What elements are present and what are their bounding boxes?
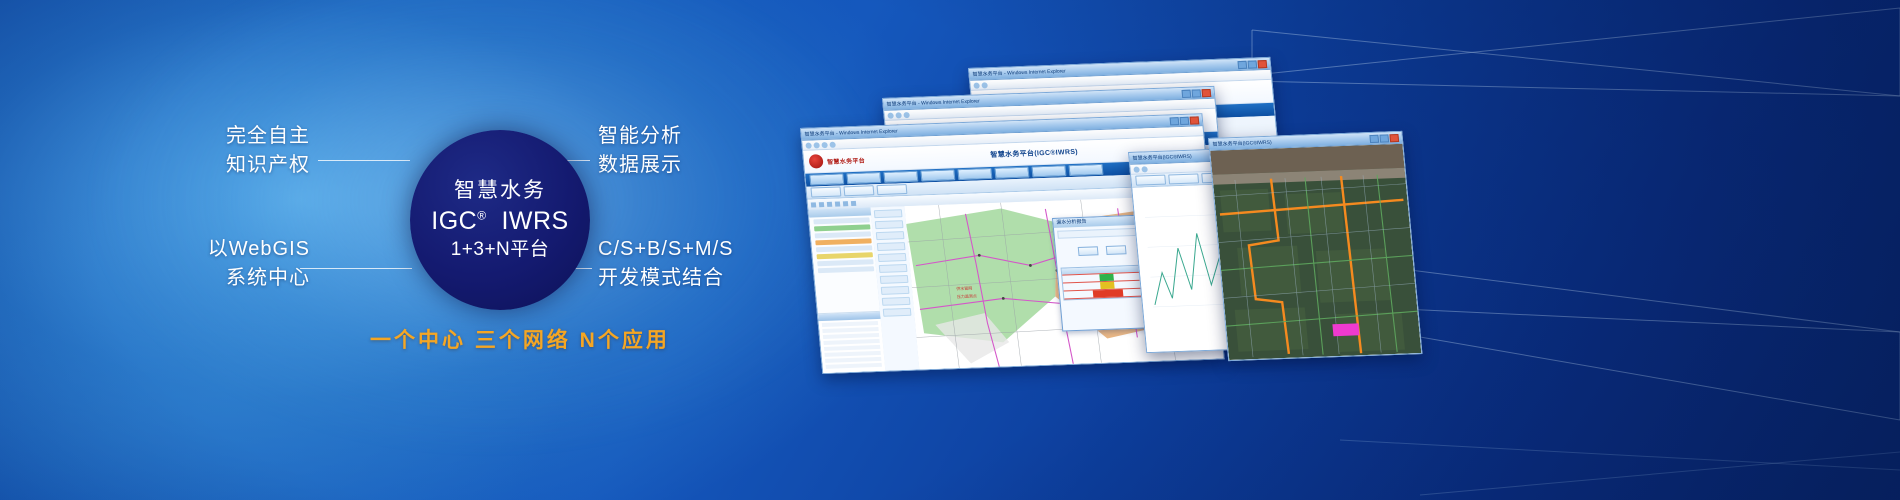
feature-top-right-line2: 数据展示 <box>598 151 682 180</box>
select-icon <box>835 201 840 206</box>
feature-label-bottom-left: 以WebGIS 系统中心 <box>160 235 310 293</box>
app-window-stack: 智慧水务平台 - Windows Internet Explorer 智慧水务平… <box>790 40 1900 380</box>
back-icon <box>1133 166 1140 172</box>
map-window-controls[interactable] <box>1369 134 1399 143</box>
tool-button <box>874 209 903 218</box>
center-hub-circle: 智慧水务 IGC® IWRS 1+3+N平台 <box>410 130 590 310</box>
feature-bottom-left-line1: 以WebGIS <box>160 235 310 264</box>
tool-button <box>881 286 910 295</box>
tool-button <box>877 242 906 251</box>
hub-product-line: IGC® IWRS <box>431 207 568 236</box>
feature-top-left-line1: 完全自主 <box>180 122 310 151</box>
middle-window-controls[interactable] <box>1181 88 1211 97</box>
tool-button <box>883 308 912 317</box>
layer-item <box>815 238 871 245</box>
sub-tab <box>1135 175 1166 186</box>
refresh-icon <box>903 111 910 117</box>
nav-tab <box>920 169 955 181</box>
forward-icon <box>813 142 820 148</box>
nav-tab <box>883 171 918 183</box>
registered-mark-icon: ® <box>477 209 486 223</box>
front-window-title: 智慧水务平台 - Windows Internet Explorer <box>804 127 898 137</box>
layer-item <box>818 266 874 273</box>
nav-tab <box>809 173 844 185</box>
hub-title-cn: 智慧水务 <box>454 179 546 202</box>
back-window-controls[interactable] <box>1237 60 1267 69</box>
front-window-controls[interactable] <box>1170 116 1200 125</box>
maximize-icon <box>1379 134 1389 142</box>
close-icon <box>1257 60 1267 68</box>
nav-tab <box>846 172 881 184</box>
forward-icon <box>981 82 988 88</box>
zoom-out-icon <box>827 201 832 206</box>
tool-button <box>876 231 905 240</box>
layer-item <box>817 259 873 266</box>
layer-item <box>813 217 869 224</box>
close-icon <box>1190 116 1200 124</box>
attribute-table-header <box>818 312 881 321</box>
connector-rule-top-left <box>318 160 410 161</box>
feature-bottom-right-line1: C/S+B/S+M/S <box>598 235 734 264</box>
back-icon <box>973 82 980 88</box>
query-button[interactable] <box>1078 246 1099 256</box>
satellite-map-canvas[interactable] <box>1210 144 1421 360</box>
nav-tab <box>1068 164 1103 176</box>
maximize-icon <box>1247 60 1257 68</box>
forward-icon <box>1141 166 1148 172</box>
tagline: 一个中心 三个网络 N个应用 <box>370 324 670 354</box>
connector-rule-bottom-left <box>300 268 412 269</box>
sub-tab <box>843 185 874 196</box>
refresh-icon <box>821 141 828 147</box>
tool-button <box>882 297 911 306</box>
nav-tab <box>1031 165 1066 177</box>
close-icon <box>1389 134 1399 142</box>
print-icon <box>851 200 856 205</box>
maximize-icon <box>1191 89 1201 97</box>
sub-tab <box>1168 173 1199 184</box>
feature-top-left-line2: 知识产权 <box>180 151 310 180</box>
minimize-icon <box>1170 117 1180 125</box>
attribute-table-panel[interactable] <box>818 311 886 374</box>
svg-text:供水管网: 供水管网 <box>956 285 973 292</box>
tool-button <box>875 220 904 229</box>
back-window-title: 智慧水务平台 - Windows Internet Explorer <box>972 67 1066 77</box>
layer-item <box>814 224 870 231</box>
satellite-map-svg <box>1210 144 1421 360</box>
back-icon <box>805 142 812 148</box>
hub-platform-label: 1+3+N平台 <box>451 239 550 261</box>
hub-brand-igc: IGC <box>431 207 477 235</box>
feature-bottom-left-line2: 系统中心 <box>160 264 310 293</box>
pan-icon <box>811 202 816 207</box>
feature-label-top-left: 完全自主 知识产权 <box>180 122 310 180</box>
sub-tab <box>810 186 841 197</box>
home-icon <box>829 141 836 147</box>
tool-button <box>880 275 909 284</box>
company-logo-icon <box>808 154 823 168</box>
back-icon <box>887 112 894 118</box>
tool-button <box>879 264 908 273</box>
map-window[interactable]: 智慧水务平台(IGC®IWRS) <box>1208 131 1422 361</box>
middle-window-title: 智慧水务平台 - Windows Internet Explorer <box>886 97 980 107</box>
layer-tree-header <box>808 207 871 217</box>
minimize-icon <box>1181 89 1191 97</box>
map-window-title: 智慧水务平台(IGC®IWRS) <box>1212 139 1272 148</box>
feature-bottom-right-line2: 开发模式结合 <box>598 264 734 293</box>
hero-banner: 完全自主 知识产权 以WebGIS 系统中心 智能分析 数据展示 C/S+B/S… <box>0 0 1900 500</box>
close-icon <box>1201 88 1211 96</box>
tool-button <box>878 253 907 262</box>
layer-item <box>817 252 873 259</box>
line-chart-window-title: 智慧水务平台(IGC®IWRS) <box>1132 153 1192 162</box>
layer-item <box>816 245 872 252</box>
svg-text:压力监测点: 压力监测点 <box>957 292 978 299</box>
zoom-in-icon <box>819 202 824 207</box>
feature-top-right-line1: 智能分析 <box>598 122 682 151</box>
sub-tab <box>876 184 907 195</box>
feature-label-top-right: 智能分析 数据展示 <box>598 122 682 180</box>
feature-label-bottom-right: C/S+B/S+M/S 开发模式结合 <box>598 235 734 293</box>
forward-icon <box>895 112 902 118</box>
maximize-icon <box>1180 116 1190 124</box>
layer-item <box>815 231 871 238</box>
minimize-icon <box>1237 60 1247 68</box>
reset-button[interactable] <box>1106 245 1127 255</box>
nav-tab <box>994 167 1029 179</box>
hub-brand-iwrs: IWRS <box>501 207 568 235</box>
front-window-brand-label: 智慧水务平台 <box>827 155 866 165</box>
measure-icon <box>843 201 848 206</box>
nav-tab <box>957 168 992 180</box>
minimize-icon <box>1369 134 1379 142</box>
